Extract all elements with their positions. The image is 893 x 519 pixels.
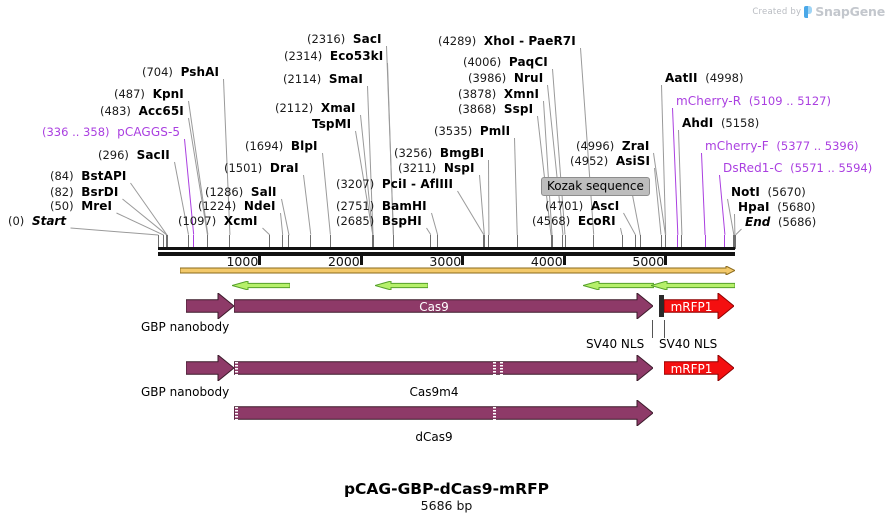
enzyme-label-bsphi: (2685) BspHI [336,215,422,227]
leader-line [678,130,682,235]
enzyme-position: (4568) [532,214,570,228]
enzyme-position: (3207) [336,177,374,191]
enzyme-name: BspHI [382,214,422,228]
enzyme-name: BamHI [382,199,427,213]
enzyme-label-nspi: (3211) NspI [398,162,475,174]
enzyme-name: MreI [81,199,112,213]
snapgene-brand-text: SnapGene [815,4,885,19]
enzyme-name: Start [32,214,66,228]
domain-divider [235,359,238,377]
enzyme-label-sacii: (296) SacII [98,149,170,161]
enzyme-label-dsred1c: DsRed1-C (5571 .. 5594) [723,162,872,174]
ruler-tick [360,256,363,265]
leader-line [322,153,331,235]
enzyme-position: (3211) [398,161,436,175]
enzyme-label-bstapi: (84) BstAPI [50,170,126,182]
enzyme-name: pCAGGS-5 [117,125,180,139]
enzyme-label-paqci: (4006) PaqCI [463,56,548,68]
enzyme-name: Acc65I [139,104,184,118]
enzyme-label-zrai: (4996) ZraI [576,140,649,152]
ruler-tick [664,256,667,265]
leader-line [735,229,742,236]
enzyme-label-xcmi: (1097) XcmI [178,215,258,227]
domain-divider [235,404,238,422]
primer-arrow-mcherry-f [583,281,654,290]
snapgene-credit: Created by SnapGene [752,4,885,19]
enzyme-label-bamhi: (2751) BamHI [336,200,427,212]
plasmid-length: 5686 bp [0,498,893,513]
leader-line [303,175,311,235]
cas9m4-arrow-row2 [234,355,653,381]
domain-divider [493,404,496,422]
enzyme-name: SmaI [329,72,363,86]
leader-line [672,108,678,235]
enzyme-position: (4289) [438,34,476,48]
enzyme-name: NruI [514,71,543,85]
enzyme-label-ahdi: AhdI (5158) [682,117,759,129]
nls-tick [652,320,653,338]
leader-line [70,228,158,236]
enzyme-position: (2685) [336,214,374,228]
enzyme-label-smai: (2114) SmaI [283,73,363,85]
enzyme-name: DsRed1-C [723,161,782,175]
enzyme-position: (4996) [576,139,614,153]
enzyme-position: (1224) [198,199,236,213]
mrfp1-label-row2: mRFP1 [664,362,719,376]
enzyme-label-kpni: (487) KpnI [114,88,184,100]
enzyme-position: (3868) [458,102,496,116]
enzyme-name: EcoRI [578,214,616,228]
enzyme-name: End [745,215,770,229]
enzyme-label-mcherryr: mCherry-R (5109 .. 5127) [676,95,831,107]
enzyme-label-end: End (5686) [745,216,816,228]
enzyme-position: (4998) [705,71,743,85]
enzyme-name: BlpI [291,139,318,153]
enzyme-label-sspi: (3868) SspI [458,103,533,115]
enzyme-name: BstAPI [81,169,126,183]
enzyme-name: KpnI [153,87,184,101]
ruler-tick [461,256,464,265]
enzyme-position: (483) [100,104,131,118]
gbp-nanobody-arrow-row1 [186,293,234,319]
enzyme-label-drai: (1501) DraI [224,162,299,174]
leader-line [431,213,438,235]
enzyme-position: (704) [142,65,173,79]
enzyme-label-ndei: (1224) NdeI [198,200,276,212]
enzyme-name: NotI [731,185,760,199]
enzyme-name: BsrDI [81,185,118,199]
enzyme-label-xhoipaer7i: (4289) XhoI - PaeR7I [438,35,576,47]
enzyme-position: (2112) [275,101,313,115]
gbp-nanobody-arrow-row2 [186,355,234,381]
enzyme-name: AsiSI [616,154,650,168]
enzyme-position: (3256) [394,146,432,160]
enzyme-label-saci: (2316) SacI [307,33,382,45]
enzyme-position: (5109 .. 5127) [749,94,831,108]
enzyme-label-blpi: (1694) BlpI [245,140,318,152]
enzyme-position: (1694) [245,139,283,153]
enzyme-name: PshAI [181,65,220,79]
promoter-feature-arrow [180,266,735,275]
enzyme-position: (2314) [284,49,322,63]
enzyme-position: (1501) [224,161,262,175]
dcas9-arrow-row3 [234,400,653,426]
mrfp1-label-row1: mRFP1 [664,300,719,314]
enzyme-position: (4006) [463,55,501,69]
leader-line [734,214,735,235]
dcas9-label-row3: dCas9 [234,430,634,444]
enzyme-name: SspI [504,102,533,116]
enzyme-name: HpaI [738,200,770,214]
leader-line [719,175,725,235]
domain-divider [500,359,503,377]
enzyme-name: AscI [591,199,619,213]
enzyme-position: (82) [50,185,74,199]
ruler-tick [563,256,566,265]
enzyme-label-sali: (1286) SalI [205,186,277,198]
enzyme-label-nrui: (3986) NruI [468,72,543,84]
cas9-label-row1: Cas9 [234,300,634,314]
enzyme-position: (1097) [178,214,216,228]
enzyme-name: PciI - AflIII [382,177,453,191]
leader-line [623,213,636,235]
enzyme-name: PaqCI [509,55,548,69]
enzyme-label-asci: (4701) AscI [545,200,619,212]
enzyme-name: DraI [270,161,299,175]
enzyme-position: (336 .. 358) [42,125,110,139]
enzyme-name: XhoI - PaeR7I [484,34,576,48]
enzyme-position: (5158) [721,116,759,130]
primer-arrow-dsred1-c [651,281,735,290]
enzyme-name: AatII [665,71,698,85]
enzyme-name: BmgBI [440,146,484,160]
leader-line [280,213,283,235]
enzyme-name: NdeI [244,199,276,213]
enzyme-name: Eco53kI [330,49,383,63]
enzyme-position: (3878) [458,87,496,101]
created-by-text: Created by [752,7,801,17]
enzyme-position: (0) [8,214,24,228]
primer-arrow-mcherry-r [375,281,428,290]
enzyme-name: AhdI [682,116,713,130]
domain-divider [493,359,496,377]
enzyme-label-bsrdi: (82) BsrDI [50,186,118,198]
enzyme-label-mrei: (50) MreI [50,200,112,212]
enzyme-label-ecori: (4568) EcoRI [532,215,616,227]
enzyme-position: (4952) [570,154,608,168]
enzyme-label-pmli: (3535) PmlI [434,125,510,137]
enzyme-name: mCherry-R [676,94,741,108]
enzyme-position: (2751) [336,199,374,213]
enzyme-label-acc65i: (483) Acc65I [100,105,184,117]
kozak-sequence-badge: Kozak sequence [541,177,650,196]
page-title: pCAG-GBP-dCas9-mRFP [0,480,893,498]
enzyme-name: NspI [444,161,475,175]
enzyme-label-asisi: (4952) AsiSI [570,155,650,167]
leader-line [701,153,706,235]
leader-line [620,228,623,235]
enzyme-label-pciaflIII: (3207) PciI - AflIII [336,178,453,190]
enzyme-position: (5680) [777,200,815,214]
enzyme-name: ZraI [622,139,650,153]
enzyme-position: (5571 .. 5594) [790,161,872,175]
enzyme-name: XmnI [504,87,539,101]
enzyme-label-xmai: (2112) XmaI [275,102,356,114]
nls-label: SV40 NLS [659,337,717,351]
enzyme-position: (2316) [307,32,345,46]
leader-line [514,138,518,235]
enzyme-position: (5686) [778,215,816,229]
leader-line [488,160,489,235]
enzyme-label-pcaggs5: (336 .. 358) pCAGGS-5 [42,126,180,138]
enzyme-name: PmlI [480,124,510,138]
cas9m4-label-row2: Cas9m4 [234,385,634,399]
nls-label: SV40 NLS [586,337,644,351]
enzyme-label-aatii: AatII (4998) [665,72,743,84]
enzyme-position: (296) [98,148,129,162]
enzyme-site-tick [735,235,736,249]
enzyme-label-eco53ki: (2314) Eco53kI [284,50,383,62]
enzyme-label-xmni: (3878) XmnI [458,88,539,100]
enzyme-name: SacII [137,148,170,162]
enzyme-label-tspmi: TspMI [312,118,351,130]
gbp-nanobody-label-row2: GBP nanobody [141,385,229,399]
leader-line [479,175,485,235]
enzyme-position: (2114) [283,72,321,86]
ruler-bar-top [158,247,735,250]
enzyme-label-noti: NotI (5670) [731,186,806,198]
enzyme-position: (84) [50,169,74,183]
enzyme-name: XcmI [224,214,258,228]
enzyme-position: (5377 .. 5396) [776,139,858,153]
enzyme-name: mCherry-F [705,139,769,153]
enzyme-position: (5670) [768,185,806,199]
enzyme-label-hpai: HpaI (5680) [738,201,816,213]
enzyme-position: (3986) [468,71,506,85]
ruler-tick [258,256,261,265]
enzyme-position: (50) [50,199,74,213]
nls-tick [664,320,665,338]
gbp-nanobody-label-row1: GBP nanobody [141,320,229,334]
enzyme-position: (487) [114,87,145,101]
enzyme-label-start: (0) Start [8,215,66,227]
enzyme-position: (3535) [434,124,472,138]
primer-arrow-pcaggs-5 [232,281,290,290]
enzyme-position: (1286) [205,185,243,199]
enzyme-name: XmaI [321,101,356,115]
enzyme-name: SalI [251,185,277,199]
enzyme-name: SacI [353,32,382,46]
enzyme-label-bmgbi: (3256) BmgBI [394,147,484,159]
enzyme-position: (4701) [545,199,583,213]
enzyme-name: TspMI [312,117,351,131]
snapgene-logo-icon [804,6,812,18]
enzyme-label-pshai: (704) PshAI [142,66,219,78]
enzyme-label-mcherryf: mCherry-F (5377 .. 5396) [705,140,859,152]
